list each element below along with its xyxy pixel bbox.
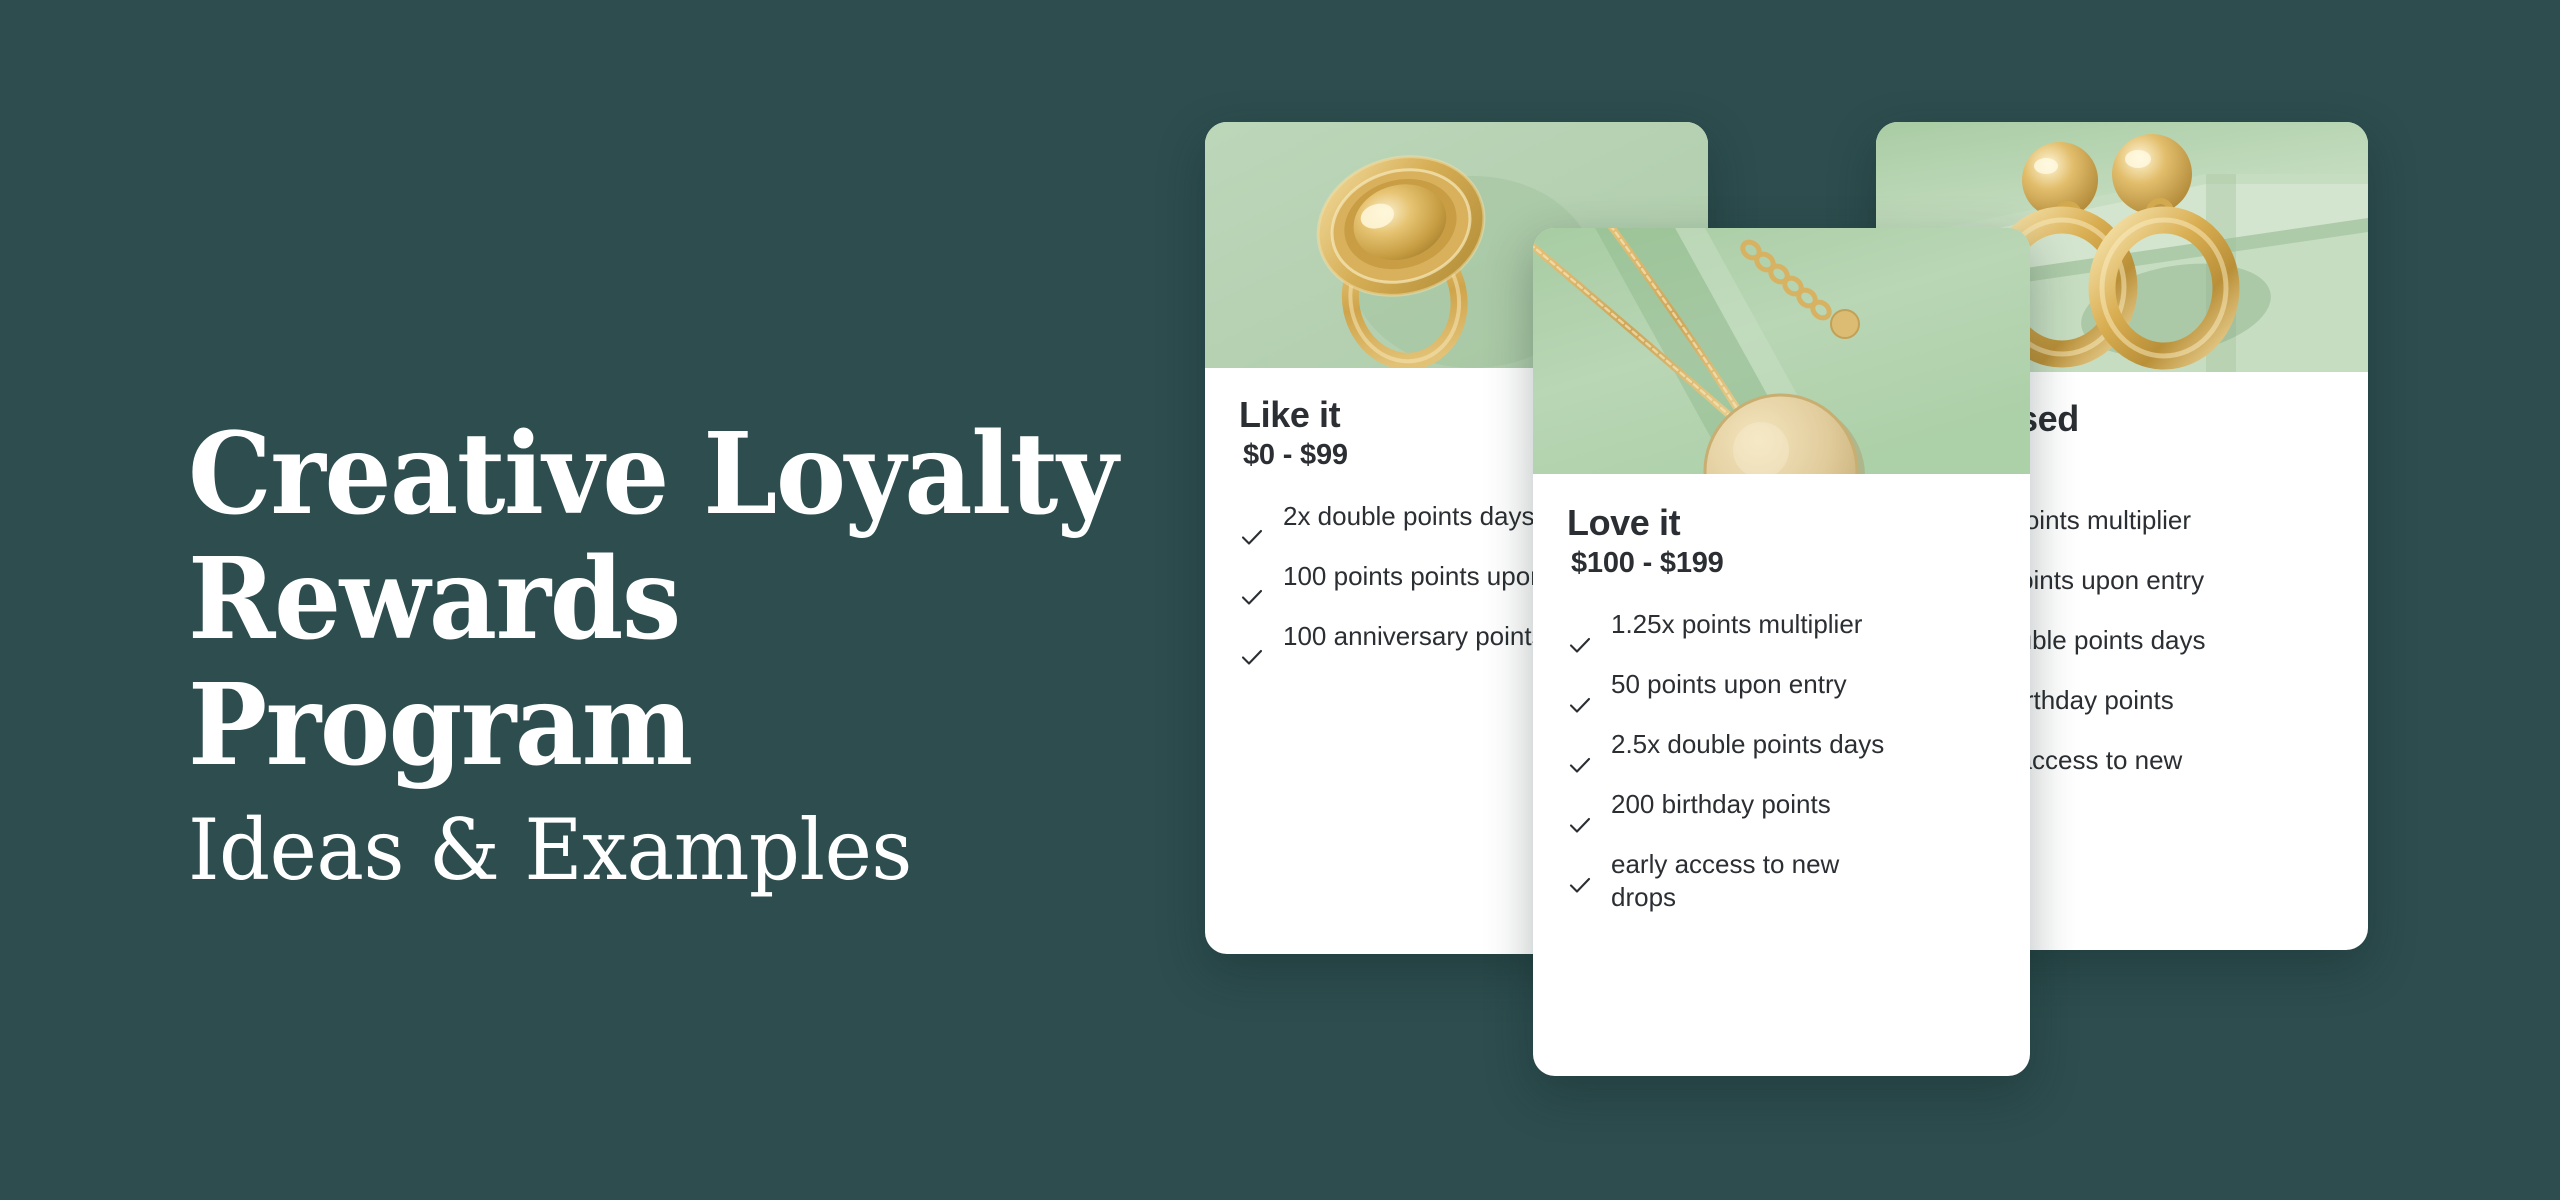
tier-perk-item: early access to new drops [1567, 848, 1996, 916]
tier-perk-label: 2.5x double points days [1611, 728, 1884, 762]
tier-perk-item: 50 points upon entry [1567, 668, 1996, 702]
check-icon [1239, 506, 1265, 532]
gold-necklace-photo [1533, 228, 2030, 474]
tier-perk-list: 1.25x points multiplier 50 points upon e… [1567, 608, 1996, 915]
check-icon [1567, 614, 1593, 640]
tier-perk-item: 200 birthday points [1567, 788, 1996, 822]
tier-perk-label: early access to new drops [1611, 848, 1839, 916]
tier-perk-label: 1.25x points multiplier [1611, 608, 1862, 642]
tier-perk-label: 50 points upon entry [1611, 668, 1847, 702]
check-icon [1567, 734, 1593, 760]
tier-perk-label: 100 anniversary points [1283, 620, 1545, 654]
check-icon [1567, 674, 1593, 700]
tier-perk-item: 2.5x double points days [1567, 728, 1996, 762]
tier-perk-label: 200 birthday points [1611, 788, 1831, 822]
tier-price-range: $100 - $199 [1571, 547, 1996, 580]
tier-perk-label: 2x double points days [1283, 500, 1535, 534]
tier-card-love-it[interactable]: Love it $100 - $199 1.25x points multipl… [1533, 228, 2030, 1076]
gold-necklace-illustration [1533, 228, 2030, 474]
check-icon [1567, 854, 1593, 880]
loyalty-tier-card-stack: Like it $0 - $99 2x double points days 1… [0, 0, 2560, 1200]
check-icon [1567, 794, 1593, 820]
tier-title: Love it [1567, 502, 1996, 543]
tier-perk-item: 1.25x points multiplier [1567, 608, 1996, 642]
check-icon [1239, 566, 1265, 592]
tier-card-image-love-it [1533, 228, 2030, 474]
tier-card-body-love-it: Love it $100 - $199 1.25x points multipl… [1533, 474, 2030, 945]
check-icon [1239, 626, 1265, 652]
